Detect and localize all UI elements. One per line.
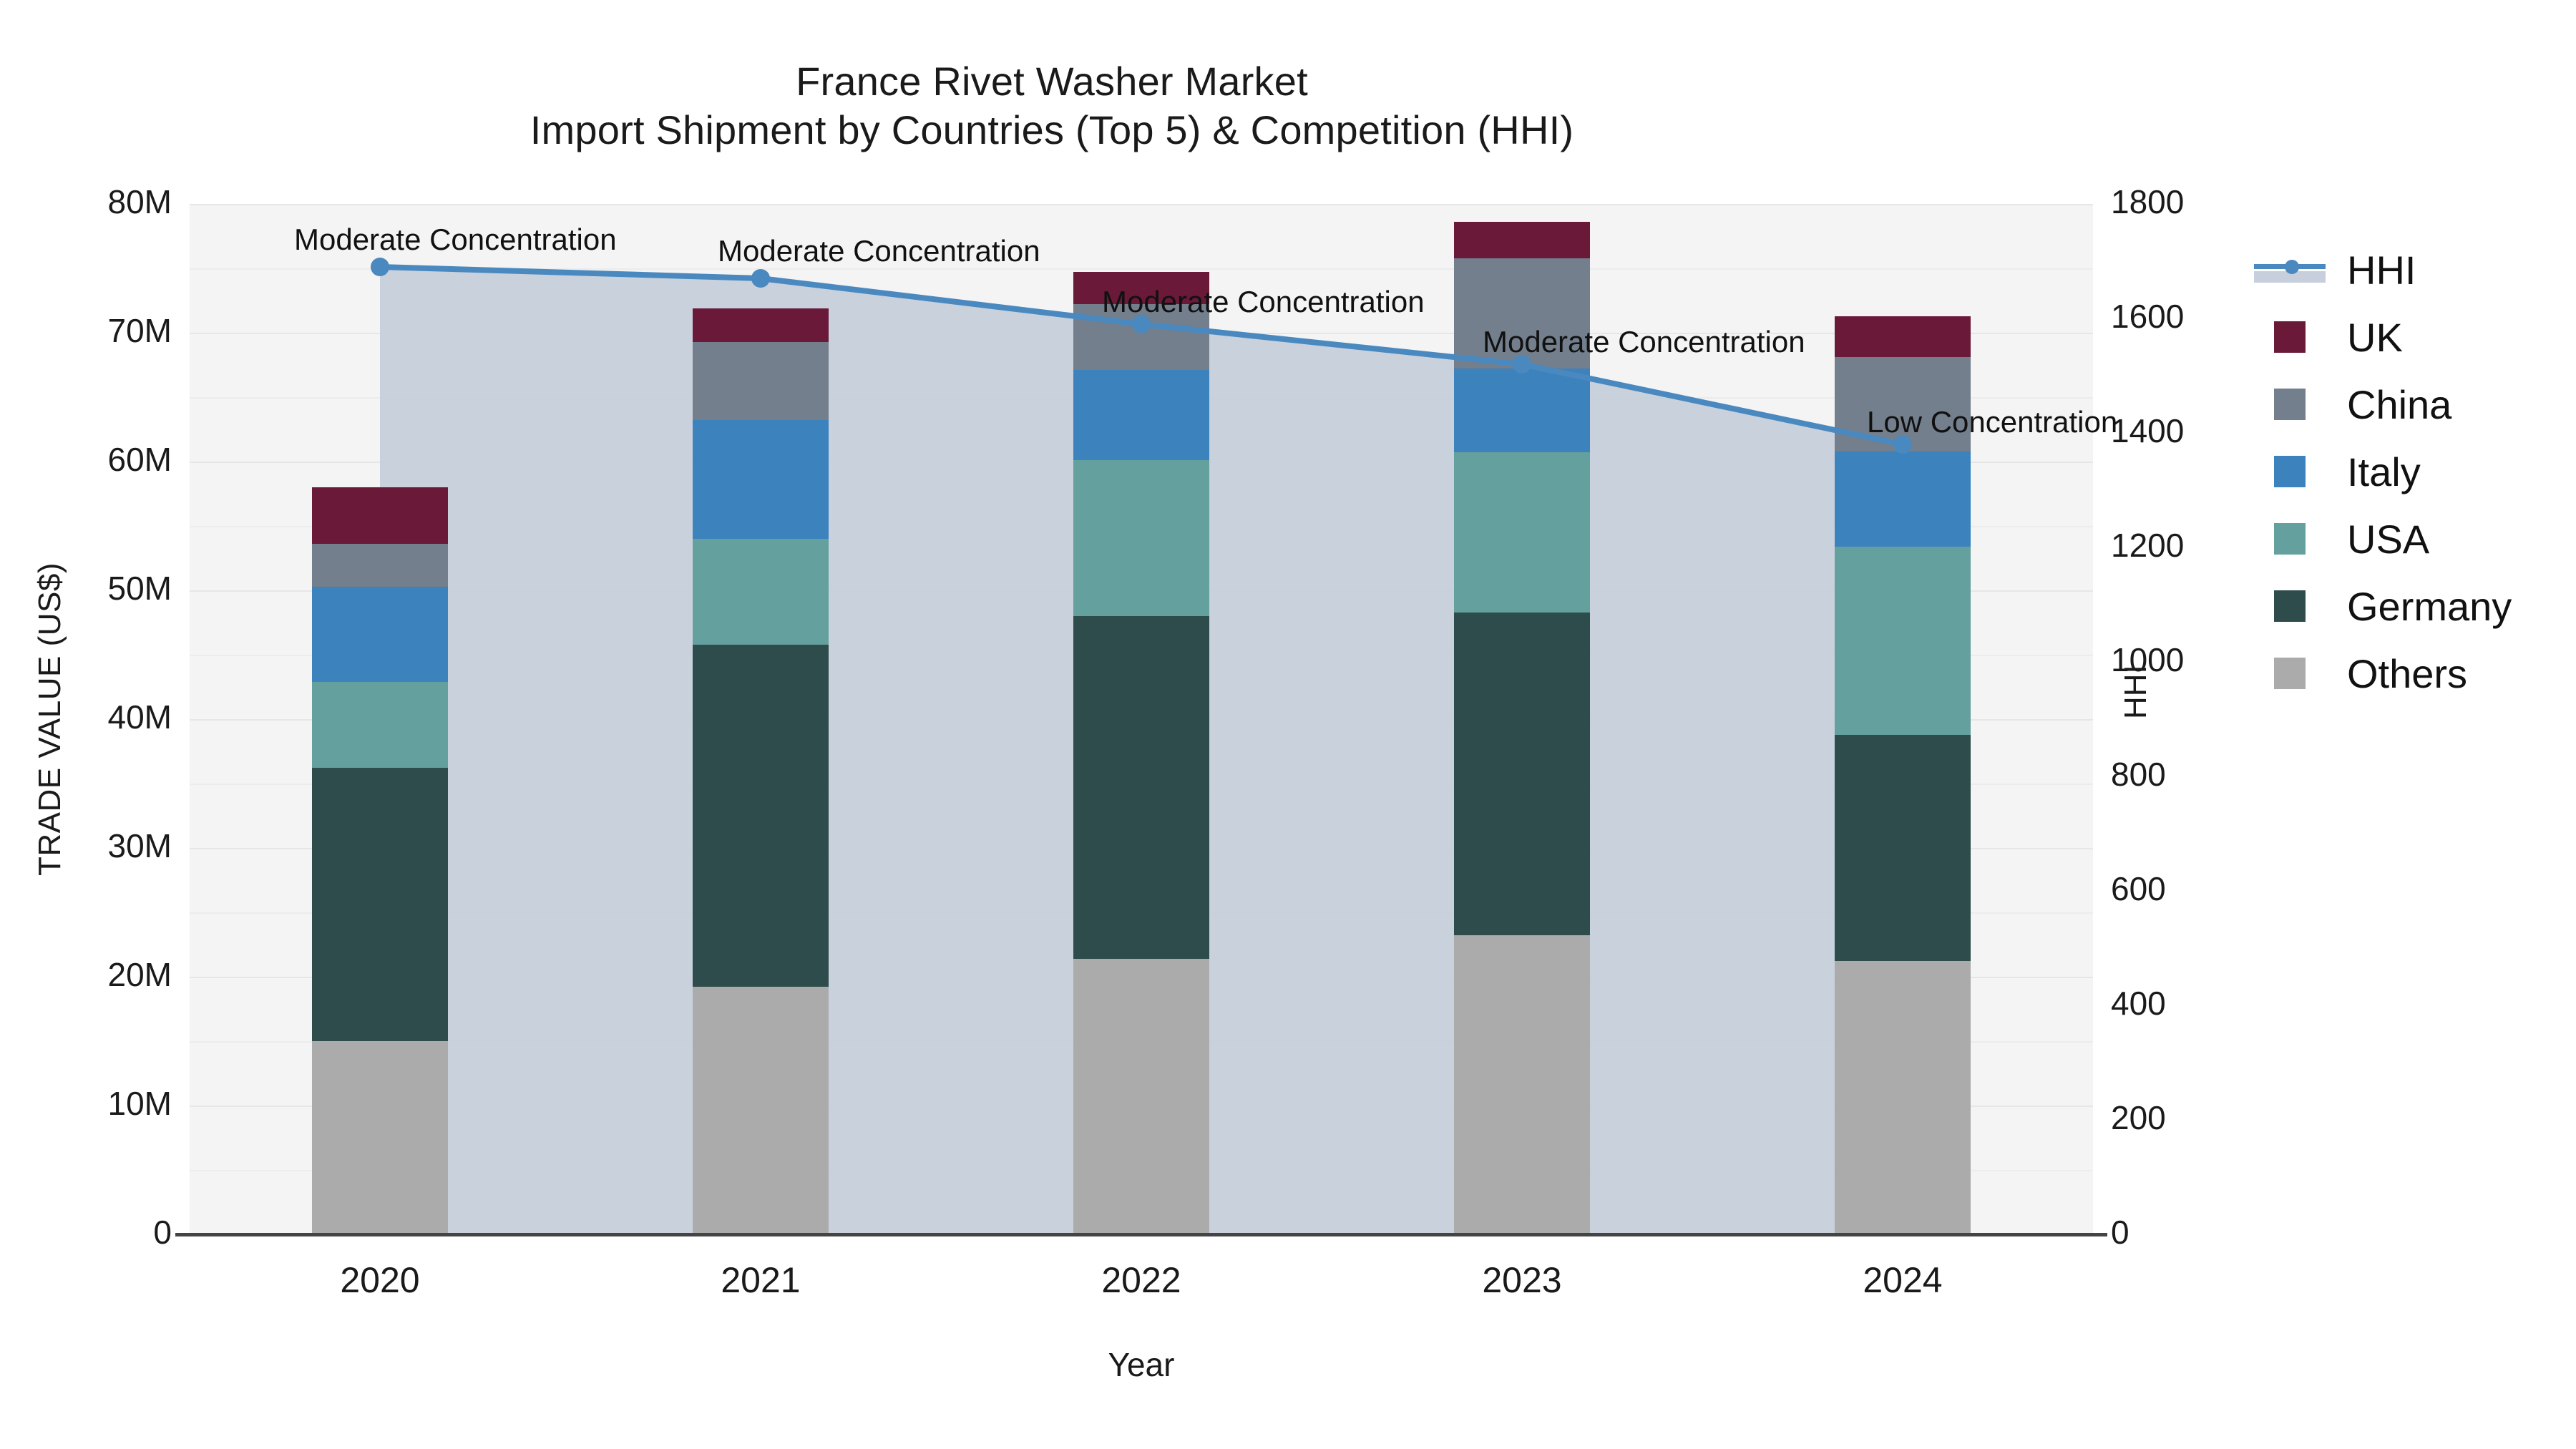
y-right-tick-1200: 1200 [2111,526,2184,565]
legend-label-germany: Germany [2347,583,2512,630]
legend-swatch-italy [2274,456,2306,487]
y-left-tick-10M: 10M [0,1084,172,1123]
legend-key-germany [2254,590,2326,622]
legend-key-usa [2254,523,2326,555]
y-left-tick-80M: 80M [0,182,172,221]
legend-item-usa[interactable]: USA [2254,505,2512,572]
y-right-tick-400: 400 [2111,984,2166,1023]
legend-item-others[interactable]: Others [2254,640,2512,707]
y-right-tick-0: 0 [2111,1213,2129,1252]
hhi-legend-marker [2285,260,2299,274]
legend-label-uk: UK [2347,314,2403,361]
chart-title: France Rivet Washer Market Import Shipme… [0,57,2104,155]
legend-key-china [2254,389,2326,420]
x-tick-2024: 2024 [1795,1259,2010,1301]
hhi-legend-key [2254,254,2326,286]
chart-title-line1: France Rivet Washer Market [0,57,2104,106]
hhi-line-overlay [190,204,2093,1234]
annotation-2022: Moderate Concentration [1102,285,1425,319]
x-axis-line [175,1233,2107,1236]
legend-swatch-others [2274,658,2306,689]
y-right-tick-600: 600 [2111,869,2166,908]
legend-key-others [2254,658,2326,689]
chart-root: France Rivet Washer Market Import Shipme… [0,0,2576,1449]
legend-label-italy: Italy [2347,449,2421,495]
y-right-tick-1600: 1600 [2111,297,2184,336]
x-axis-title: Year [190,1345,2093,1384]
legend-swatch-usa [2274,523,2306,555]
plot-area [190,204,2093,1234]
legend-label-others: Others [2347,650,2467,697]
annotation-2020: Moderate Concentration [294,223,617,257]
legend-label-usa: USA [2347,516,2429,562]
y-right-tick-200: 200 [2111,1098,2166,1137]
legend-swatch-china [2274,389,2306,420]
x-tick-2021: 2021 [653,1259,868,1301]
x-tick-2023: 2023 [1415,1259,1629,1301]
x-tick-2020: 2020 [273,1259,487,1301]
legend-swatch-germany [2274,590,2306,622]
legend-key-hhi [2254,254,2326,286]
x-tick-2022: 2022 [1034,1259,1249,1301]
hhi-marker-2021[interactable] [751,269,770,288]
legend-key-uk [2254,321,2326,353]
y-left-tick-40M: 40M [0,698,172,736]
legend-item-hhi[interactable]: HHI [2254,236,2512,303]
y-left-tick-50M: 50M [0,569,172,608]
legend-key-italy [2254,456,2326,487]
annotation-2024: Low Concentration [1867,405,2117,439]
legend-swatch-uk [2274,321,2306,353]
legend-item-uk[interactable]: UK [2254,303,2512,371]
hhi-marker-2020[interactable] [371,258,389,276]
y-right-tick-800: 800 [2111,755,2166,794]
y-axis-right-title: HHI [2118,665,2154,719]
y-left-tick-70M: 70M [0,311,172,350]
legend-item-italy[interactable]: Italy [2254,438,2512,505]
y-left-tick-0: 0 [0,1213,172,1252]
annotation-2023: Moderate Concentration [1483,325,1805,359]
annotation-2021: Moderate Concentration [718,234,1040,268]
plot-inner [190,204,2093,1234]
y-left-tick-20M: 20M [0,955,172,994]
chart-title-line2: Import Shipment by Countries (Top 5) & C… [0,106,2104,155]
y-right-tick-1800: 1800 [2111,182,2184,221]
y-axis-left-title: TRADE VALUE (US$) [32,504,68,934]
legend-label-hhi: HHI [2347,247,2416,293]
y-right-tick-1400: 1400 [2111,411,2184,450]
legend: HHIUKChinaItalyUSAGermanyOthers [2254,236,2512,707]
y-left-tick-30M: 30M [0,826,172,865]
y-left-tick-60M: 60M [0,440,172,479]
legend-item-china[interactable]: China [2254,371,2512,438]
legend-item-germany[interactable]: Germany [2254,572,2512,640]
legend-label-china: China [2347,381,2451,428]
